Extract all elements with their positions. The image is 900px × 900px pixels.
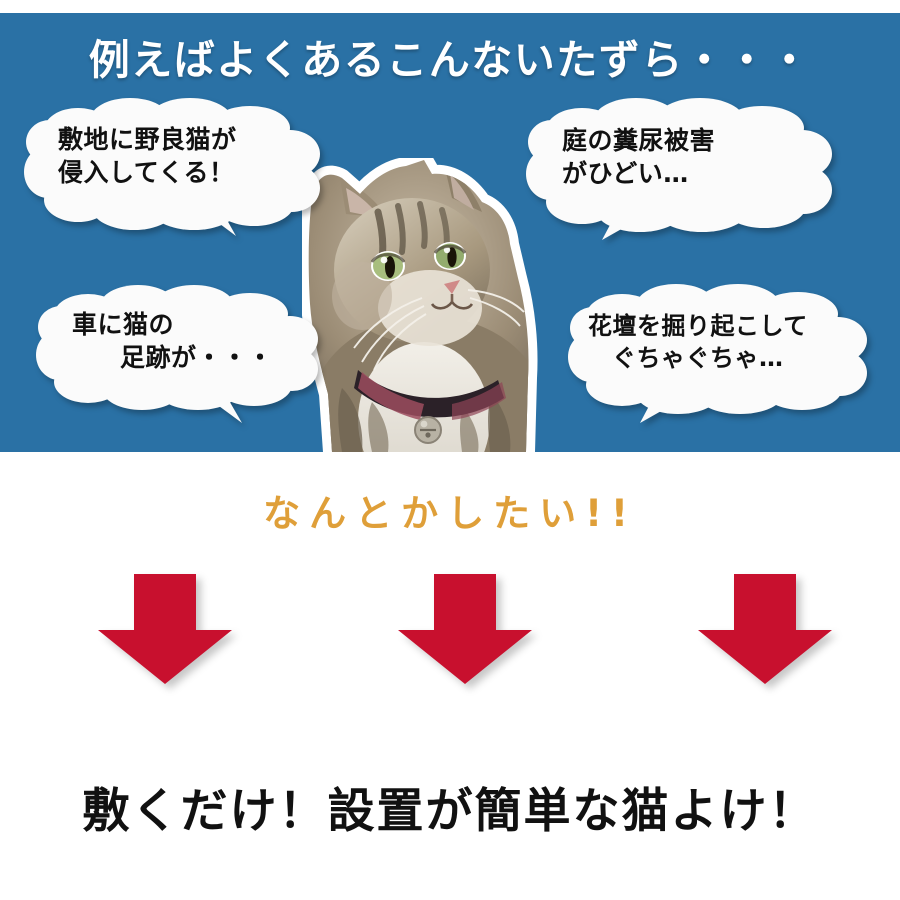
cat-photo [302,158,560,452]
speech-bubble-complaint-4-text: 花壇を掘り起こして ぐちゃぐちゃ… [566,285,868,401]
speech-bubble-complaint-1: 敷地に野良猫が 侵入してくる！ [22,96,322,216]
speech-bubble-complaint-4: 花壇を掘り起こして ぐちゃぐちゃ… [566,285,868,401]
speech-bubble-complaint-3: 車に猫の 足跡が・・・ [34,285,320,397]
hero-title: 例えばよくあるこんないたずら・・・ [0,26,900,86]
down-arrow-icon [90,572,240,687]
speech-bubble-complaint-3-text: 車に猫の 足跡が・・・ [34,285,320,397]
speech-bubble-complaint-1-text: 敷地に野良猫が 侵入してくる！ [22,96,322,216]
down-arrow-icon [690,572,840,687]
speech-bubble-complaint-2-text: 庭の糞尿被害 がひどい… [524,96,832,218]
mid-caption: なんとかしたい!! [0,483,900,537]
arrow-row [0,572,900,690]
cat-body-group [302,158,560,452]
bottom-headline: 敷くだけ！設置が簡単な猫よけ！ [0,772,900,841]
bubble-line-1: 車に猫の [72,308,320,341]
bubble-line-2: 足跡が・・・ [72,341,320,374]
bubble-line-1: 花壇を掘り起こして [588,311,868,343]
bubble-line-1: 敷地に野良猫が [58,123,322,156]
down-arrow-icon [390,572,540,687]
bubble-line-2: ぐちゃぐちゃ… [588,343,868,375]
promo-banner: 例えばよくあるこんないたずら・・・ [0,0,900,900]
bubble-line-1: 庭の糞尿被害 [562,124,832,157]
cat-photo-illustration [302,158,560,452]
speech-bubble-complaint-2: 庭の糞尿被害 がひどい… [524,96,832,218]
bubble-line-2: がひどい… [562,157,832,190]
bubble-line-2: 侵入してくる！ [58,156,322,189]
